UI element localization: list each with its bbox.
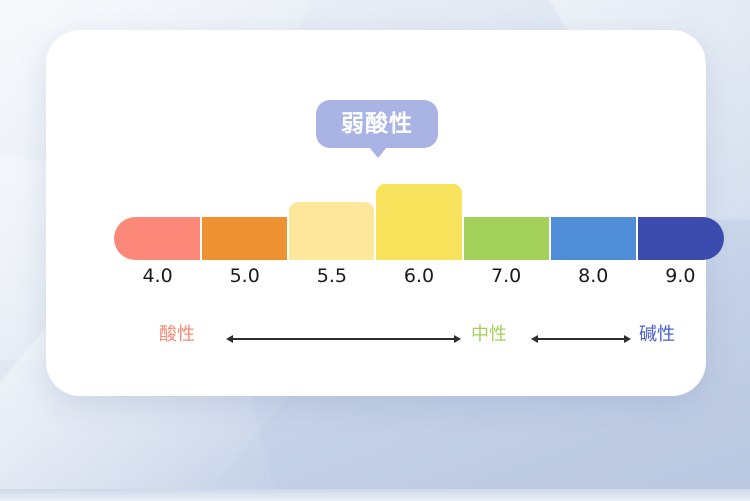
ph-tick-label-4-0: 4.0 [114, 264, 201, 288]
ph-segment-5-0[interactable] [202, 217, 287, 260]
ph-tick-label-6-0: 6.0 [375, 264, 462, 288]
ph-segment-6-0[interactable] [376, 184, 461, 260]
ph-status-badge[interactable]: 弱酸性 [316, 100, 438, 158]
arrow-shaft [232, 338, 455, 340]
arrow-shaft [537, 338, 625, 340]
arrow-head-right-icon [454, 335, 461, 343]
arrow-head-right-icon [624, 335, 631, 343]
legend-arrow-acidic-to-neutral [226, 334, 461, 344]
ph-segment-5-5[interactable] [289, 202, 374, 260]
background-bottom-band [0, 489, 750, 501]
ph-segment-9-0[interactable] [638, 217, 724, 260]
ph-tick-label-9-0: 9.0 [637, 264, 724, 288]
ph-legend-row: 酸性 中性 碱性 [114, 322, 724, 350]
ph-tick-label-7-0: 7.0 [463, 264, 550, 288]
ph-scale-bar [114, 180, 724, 260]
status-badge-body[interactable]: 弱酸性 [316, 100, 438, 148]
ph-segment-8-0[interactable] [551, 217, 636, 260]
status-badge-pointer-icon [369, 147, 387, 158]
legend-label-alkaline: 碱性 [639, 322, 675, 348]
status-badge-label: 弱酸性 [341, 113, 413, 136]
ph-tick-label-8-0: 8.0 [550, 264, 637, 288]
ph-scale-card: 弱酸性 4.05.05.56.07.08.09.0 酸性 中性 碱性 [46, 30, 706, 396]
ph-segment-7-0[interactable] [464, 217, 549, 260]
ph-tick-label-5-5: 5.5 [288, 264, 375, 288]
ph-tick-label-5-0: 5.0 [201, 264, 288, 288]
ph-segment-4-0[interactable] [114, 217, 200, 260]
legend-arrow-neutral-to-alkaline [531, 334, 631, 344]
legend-label-neutral: 中性 [471, 322, 507, 348]
legend-label-acidic: 酸性 [159, 322, 195, 348]
ph-scale-tick-row: 4.05.05.56.07.08.09.0 [114, 264, 724, 290]
